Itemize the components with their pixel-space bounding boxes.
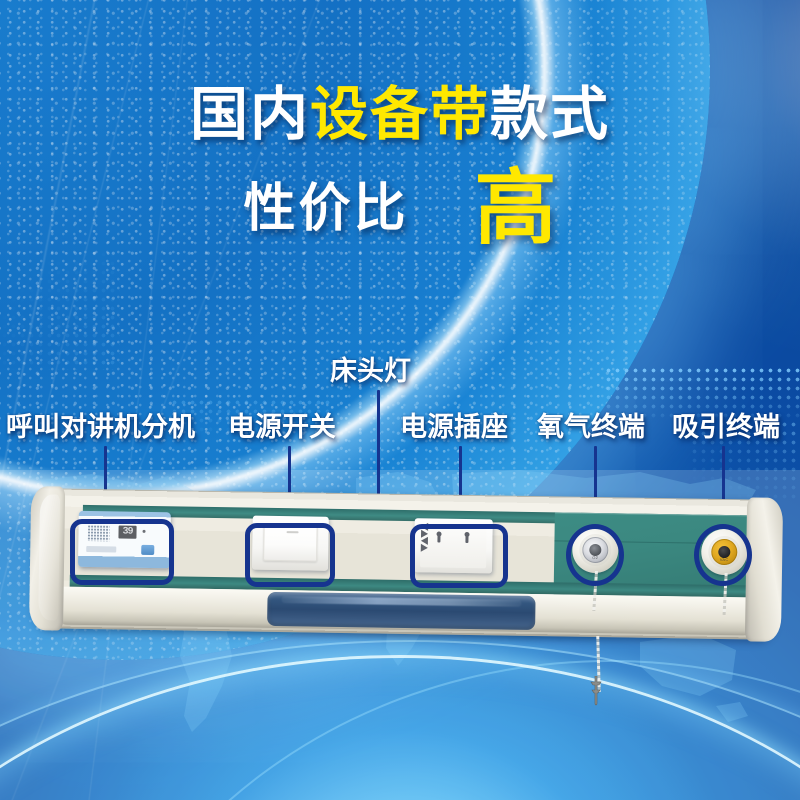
highlight-power-switch (245, 523, 335, 587)
promo-banner: 国内设备带款式 性价比高 呼叫对讲机分机 电源开关 床头灯 电源插座 氧气终端 … (0, 0, 800, 800)
page-title: 国内设备带款式 (0, 86, 800, 144)
highlight-intercom (70, 519, 174, 585)
callout-label-power-switch: 电源开关 (228, 414, 336, 441)
page-subtitle: 性价比高 (0, 168, 800, 250)
title-segment-2: 设备带 (310, 82, 490, 147)
callout-label-bed-lamp: 床头灯 (330, 358, 411, 385)
callout-label-oxygen: 氧气终端 (537, 414, 645, 441)
subtitle-segment-1: 性价比 (243, 180, 408, 238)
title-segment-3: 款式 (490, 82, 610, 147)
highlight-power-socket (410, 524, 508, 588)
title-segment-1: 国内 (190, 82, 310, 147)
unit-end-cap-right (745, 497, 783, 642)
highlight-oxygen (566, 524, 624, 586)
unit-end-cap-left (29, 486, 65, 631)
callout-label-intercom: 呼叫对讲机分机 (6, 414, 195, 441)
halftone-dots-left-upper (0, 250, 120, 370)
highlight-suction (694, 524, 752, 586)
callout-label-suction: 吸引终端 (672, 414, 780, 441)
hose-probe-plug (588, 676, 604, 706)
subtitle-segment-2: 高 (475, 163, 557, 254)
callout-label-power-socket: 电源插座 (400, 414, 508, 441)
